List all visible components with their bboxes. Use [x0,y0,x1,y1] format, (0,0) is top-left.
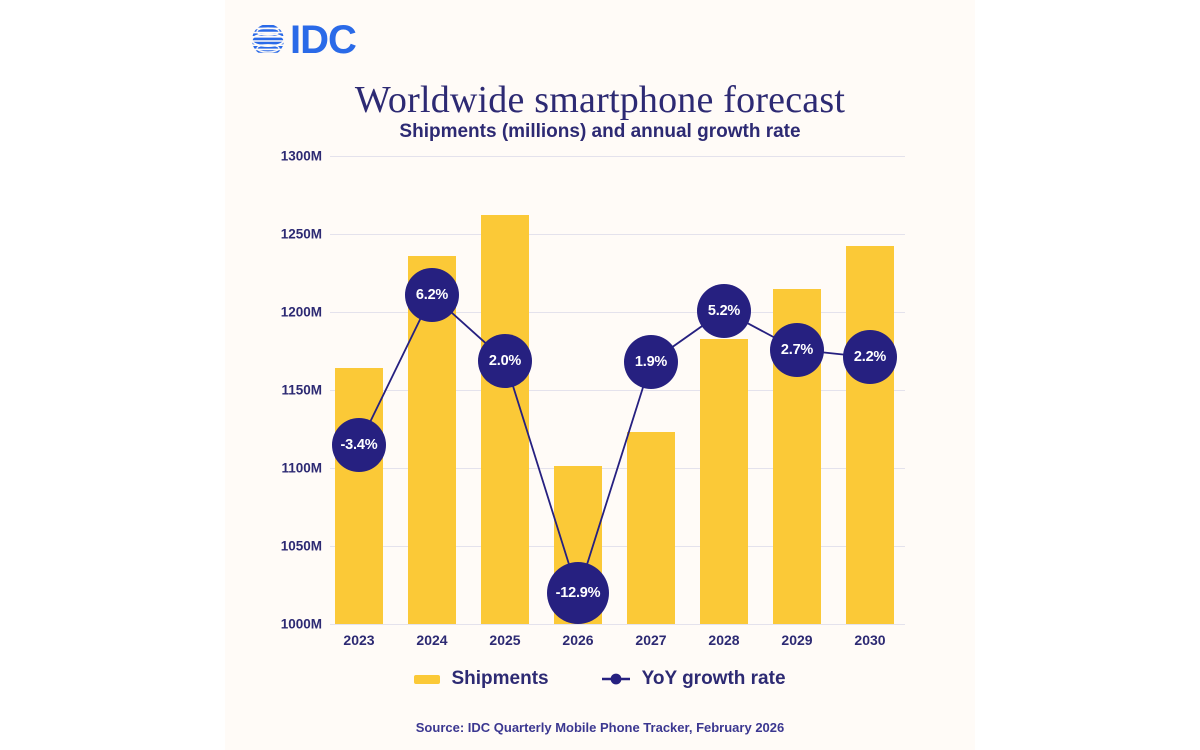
bar-2028[interactable] [700,339,748,624]
gridline [330,234,905,235]
chart-page: IDC Worldwide smartphone forecast Shipme… [0,0,1200,750]
x-axis-tick-label-2028: 2028 [689,632,759,648]
x-axis-tick-label-2027: 2027 [616,632,686,648]
growth-bubble-2023[interactable]: -3.4% [332,418,386,472]
gridline [330,156,905,157]
x-axis-tick-label-2029: 2029 [762,632,832,648]
source-note: Source: IDC Quarterly Mobile Phone Track… [225,720,975,735]
x-axis-tick-label-2023: 2023 [324,632,394,648]
legend-line-dot-icon [601,672,631,686]
legend-label-yoy-growth-rate: YoY growth rate [642,668,786,690]
chart-legend: Shipments YoY growth rate [225,668,975,690]
y-axis-tick-label: 1050M [262,539,322,554]
growth-bubble-2027[interactable]: 1.9% [624,335,678,389]
bar-2025[interactable] [481,215,529,624]
bar-2027[interactable] [627,432,675,624]
y-axis-tick-label: 1150M [262,383,322,398]
bar-2030[interactable] [846,246,894,624]
growth-bubble-2026[interactable]: -12.9% [547,562,609,624]
x-axis-tick-label-2025: 2025 [470,632,540,648]
bar-2023[interactable] [335,368,383,624]
growth-bubble-2024[interactable]: 6.2% [405,268,459,322]
growth-bubble-2029[interactable]: 2.7% [770,323,824,377]
legend-item-yoy-growth-rate[interactable]: YoY growth rate [601,668,786,690]
y-axis-tick-label: 1250M [262,227,322,242]
legend-label-shipments: Shipments [451,668,548,690]
y-axis-tick-label: 1000M [262,617,322,632]
y-axis-tick-label: 1300M [262,149,322,164]
x-axis-tick-label-2024: 2024 [397,632,467,648]
plot-area: 1000M1050M1100M1150M1200M1250M1300M -3.4… [0,0,1200,750]
y-axis-tick-label: 1200M [262,305,322,320]
x-axis-tick-label-2026: 2026 [543,632,613,648]
growth-bubble-2028[interactable]: 5.2% [697,284,751,338]
x-axis-tick-label-2030: 2030 [835,632,905,648]
legend-item-shipments[interactable]: Shipments [414,668,548,690]
y-axis-tick-label: 1100M [262,461,322,476]
growth-bubble-2025[interactable]: 2.0% [478,334,532,388]
legend-bar-swatch-icon [414,675,440,684]
gridline [330,624,905,625]
